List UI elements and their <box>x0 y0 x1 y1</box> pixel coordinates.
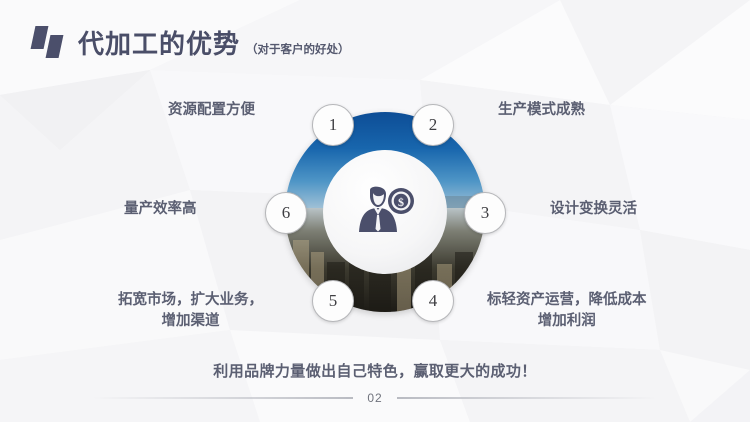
slide-header: 代加工的优势 （对于客户的好处） <box>0 0 750 80</box>
number-badge-1[interactable]: 1 <box>312 104 354 146</box>
photo-building <box>293 240 309 298</box>
svg-text:$: $ <box>398 195 404 209</box>
number-badge-6[interactable]: 6 <box>265 192 307 234</box>
page-subtitle: （对于客户的好处） <box>246 41 350 57</box>
item-label-1: 资源配置方便 <box>168 100 255 121</box>
businessman-with-dollar-coin-icon: $ <box>354 184 416 240</box>
number-badge-2[interactable]: 2 <box>412 104 454 146</box>
center-wheel: $ <box>285 112 485 312</box>
center-icon-disc: $ <box>323 150 447 274</box>
footer-rule-left <box>93 397 353 399</box>
number-badge-5[interactable]: 5 <box>312 280 354 322</box>
logo-mark-icon <box>31 26 75 60</box>
photo-building <box>455 252 473 312</box>
item-label-5: 拓宽市场，扩大业务， 增加渠道 <box>118 290 263 332</box>
slide: 代加工的优势 （对于客户的好处） 资源配置方便 生产模式成熟 设计变换灵活 标轻… <box>0 0 750 422</box>
number-badge-3[interactable]: 3 <box>464 192 506 234</box>
slide-footer: 02 <box>0 388 750 408</box>
item-label-3: 设计变换灵活 <box>550 199 637 220</box>
item-label-2: 生产模式成熟 <box>498 100 585 121</box>
page-number: 02 <box>367 391 382 405</box>
photo-building <box>369 272 391 312</box>
page-title: 代加工的优势 <box>78 24 240 61</box>
item-label-6: 量产效率高 <box>124 199 197 220</box>
number-badge-4[interactable]: 4 <box>412 280 454 322</box>
title-row: 代加工的优势 （对于客户的好处） <box>78 24 350 61</box>
footer-rule-right <box>397 397 657 399</box>
item-label-4: 标轻资产运营，降低成本 增加利润 <box>487 290 647 332</box>
tagline: 利用品牌力量做出自己特色，赢取更大的成功！ <box>0 360 750 381</box>
